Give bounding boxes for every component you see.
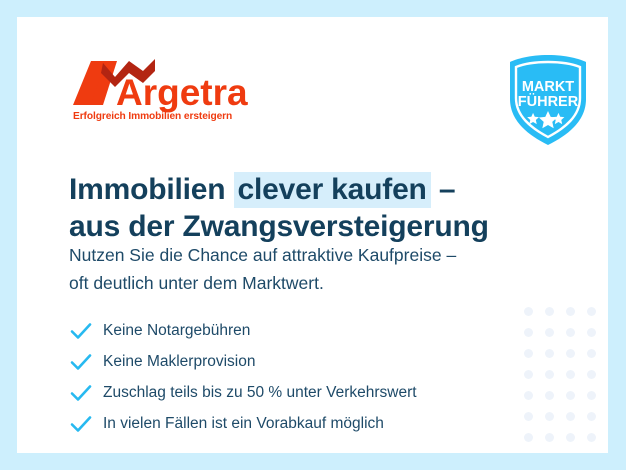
dot (587, 433, 596, 442)
dot (587, 328, 596, 337)
dot (587, 307, 596, 316)
dot (524, 433, 533, 442)
headline-post: – (431, 173, 456, 206)
check-icon (69, 319, 93, 343)
argetra-logo[interactable]: Argetra Erfolgreich Immobilien ersteiger… (69, 57, 269, 123)
list-item-label: In vielen Fällen ist ein Vorabkauf mögli… (103, 414, 384, 434)
list-item: In vielen Fällen ist ein Vorabkauf mögli… (69, 408, 509, 439)
page-title: Immobilien clever kaufen – aus der Zwang… (69, 171, 539, 245)
list-item: Keine Notargebühren (69, 315, 509, 346)
logo-wordmark: Argetra (116, 72, 248, 113)
dot (566, 391, 575, 400)
dot (545, 433, 554, 442)
dot (566, 307, 575, 316)
dot (587, 370, 596, 379)
check-icon (69, 350, 93, 374)
dot (545, 349, 554, 358)
dot (545, 307, 554, 316)
dot (566, 412, 575, 421)
headline-line-1: Immobilien clever kaufen – (69, 172, 455, 208)
dot (524, 391, 533, 400)
list-item-label: Zuschlag teils bis zu 50 % unter Verkehr… (103, 383, 417, 403)
badge-line-1: MARKT (522, 79, 574, 95)
dot (566, 349, 575, 358)
subheadline-line-2: oft deutlich unter dem Marktwert. (69, 269, 549, 297)
dot (587, 412, 596, 421)
banner-card: Argetra Erfolgreich Immobilien ersteiger… (17, 17, 608, 453)
headline-highlight: clever kaufen (234, 172, 431, 208)
list-item: Keine Maklerprovision (69, 346, 509, 377)
subheadline: Nutzen Sie die Chance auf attraktive Kau… (69, 241, 549, 297)
dot (566, 370, 575, 379)
promo-banner: Argetra Erfolgreich Immobilien ersteiger… (0, 0, 626, 470)
badge-line-2: FÜHRER (518, 93, 579, 110)
dot (545, 391, 554, 400)
dot (524, 349, 533, 358)
dot (566, 328, 575, 337)
dot (587, 391, 596, 400)
dot-grid-decoration (524, 307, 608, 453)
dot (587, 349, 596, 358)
benefits-list: Keine Notargebühren Keine Maklerprovisio… (69, 315, 509, 439)
dot (524, 307, 533, 316)
list-item: Zuschlag teils bis zu 50 % unter Verkehr… (69, 377, 509, 408)
dot (524, 412, 533, 421)
list-item-label: Keine Notargebühren (103, 321, 250, 341)
dot (545, 412, 554, 421)
dot (566, 433, 575, 442)
market-leader-badge: MARKT FÜHRER (506, 53, 590, 147)
headline-pre: Immobilien (69, 173, 234, 206)
dot (545, 328, 554, 337)
dot (545, 370, 554, 379)
logo-tagline: Erfolgreich Immobilien ersteigern (73, 111, 232, 122)
check-icon (69, 412, 93, 436)
dot (524, 370, 533, 379)
headline-line-2: aus der Zwangsversteigerung (69, 208, 539, 245)
subheadline-line-1: Nutzen Sie die Chance auf attraktive Kau… (69, 241, 549, 269)
list-item-label: Keine Maklerprovision (103, 352, 256, 372)
check-icon (69, 381, 93, 405)
dot (524, 328, 533, 337)
